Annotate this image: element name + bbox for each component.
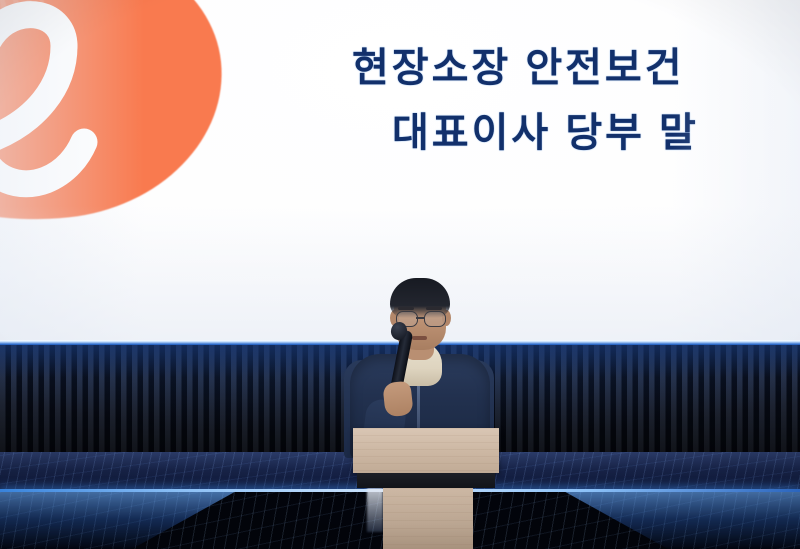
- presenter-glasses-right-lens: [424, 311, 446, 327]
- presenter-glasses-bridge: [416, 317, 424, 319]
- podium-leg-highlight: [367, 488, 383, 532]
- screen-headline: 현장소장 안전보건 대표이사 당부 말: [352, 36, 800, 166]
- podium-base-column: [383, 488, 473, 549]
- logo-letter-e-icon: [0, 0, 198, 244]
- headline-line-1: 현장소장 안전보건: [352, 46, 685, 90]
- podium-front-panel: [353, 428, 499, 473]
- presenter-hand: [382, 381, 413, 418]
- presenter-mouth: [412, 336, 427, 340]
- presenter-eyebrow-left: [398, 307, 414, 310]
- stage-photograph: 현장소장 안전보건 대표이사 당부 말: [0, 0, 800, 549]
- podium-dark-band: [357, 473, 495, 488]
- headline-line-2: 대표이사 당부 말: [352, 101, 800, 166]
- presenter-eyebrow-right: [426, 307, 442, 310]
